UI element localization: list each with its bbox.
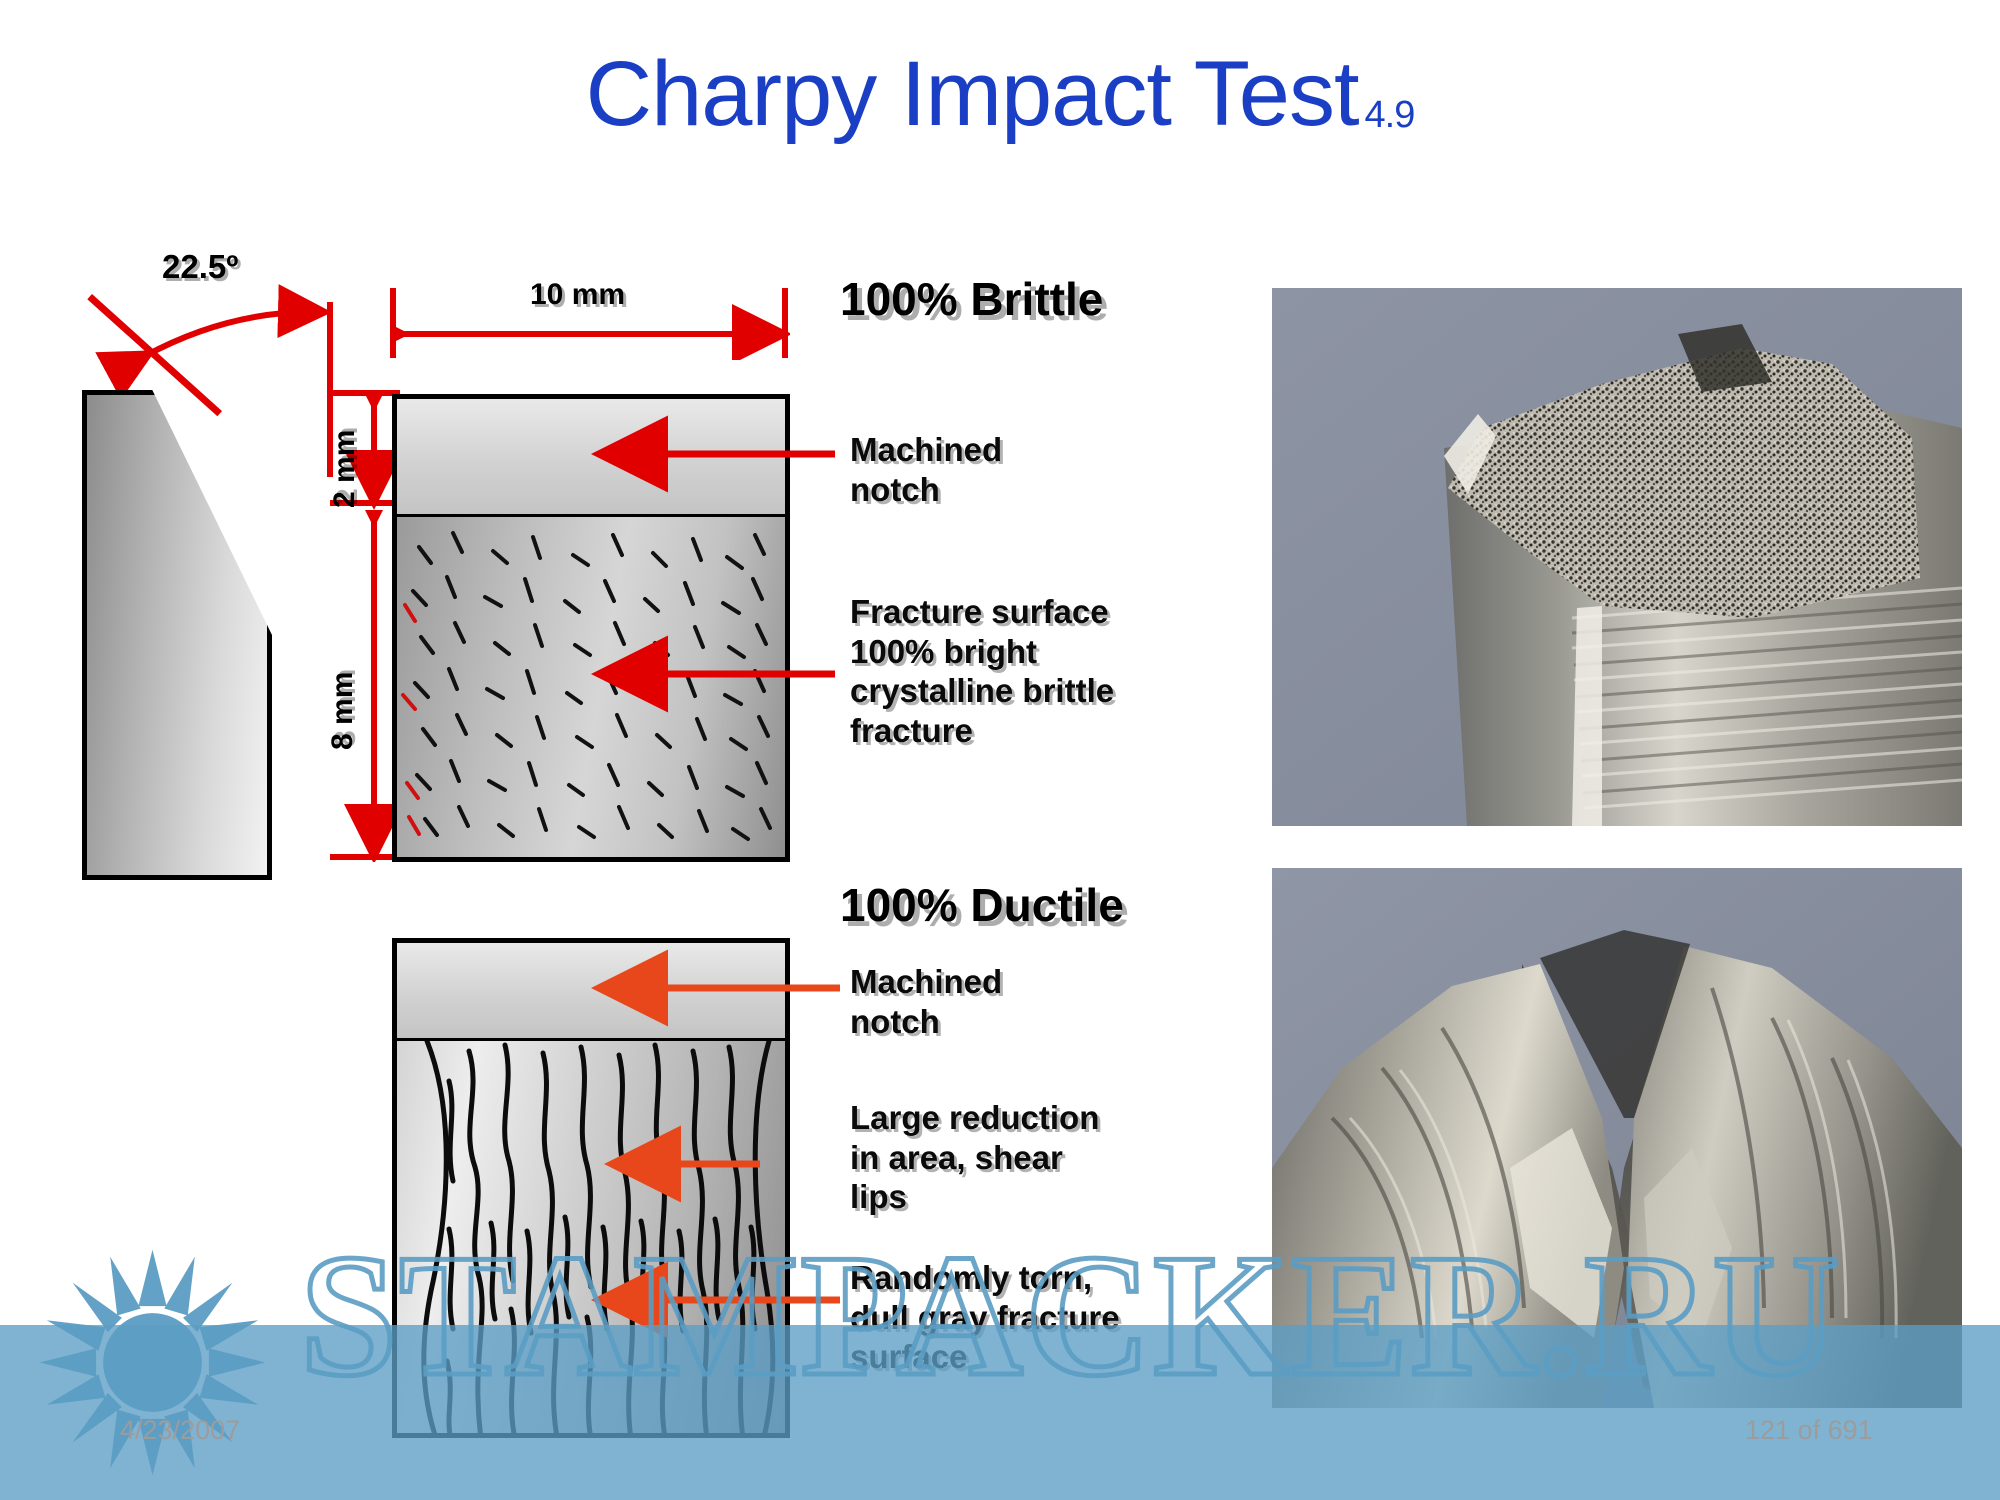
angle-label: 22.5º	[162, 248, 238, 286]
notch-profile-diagram	[82, 390, 272, 880]
angle-annotation: 22.5º	[70, 270, 360, 410]
ductile-heading: 100% Ductile	[840, 878, 1124, 932]
brittle-fracture-photo	[1272, 288, 1962, 826]
width-dimension: 10 mm	[390, 300, 790, 360]
brittle-callout-fracture-surface: Fracture surface 100% bright crystalline…	[850, 592, 1114, 750]
page-title-suffix: 4.9	[1365, 94, 1415, 136]
brittle-callout-arrows	[580, 430, 860, 710]
ductile-callout-shear-lips: Large reduction in area, shear lips	[850, 1098, 1099, 1217]
footer-page-number: 121 of 691	[1745, 1415, 1873, 1446]
notch-depth-dimension: 2 mm	[330, 390, 400, 510]
ductile-fracture-photo	[1272, 868, 1962, 1408]
ductile-callout-arrows	[580, 960, 870, 1320]
notch-depth-label: 2 mm	[328, 430, 362, 508]
width-label: 10 mm	[530, 278, 625, 312]
footer-date: 4/23/2007	[120, 1415, 240, 1446]
ligament-dimension: 8 mm	[330, 510, 400, 862]
page-title: Charpy Impact Test4.9	[0, 42, 2000, 147]
ductile-callout-machined-notch: Machined notch	[850, 962, 1002, 1041]
ductile-callout-dull-gray: Randomly torn, dull gray fracture surfac…	[850, 1258, 1120, 1377]
notch-profile-wedge	[82, 390, 272, 880]
brittle-heading: 100% Brittle	[840, 272, 1103, 326]
brittle-callout-machined-notch: Machined notch	[850, 430, 1002, 509]
angle-arc-arrow	[70, 270, 360, 410]
page-title-main: Charpy Impact Test	[586, 43, 1359, 145]
ligament-label: 8 mm	[326, 672, 360, 750]
